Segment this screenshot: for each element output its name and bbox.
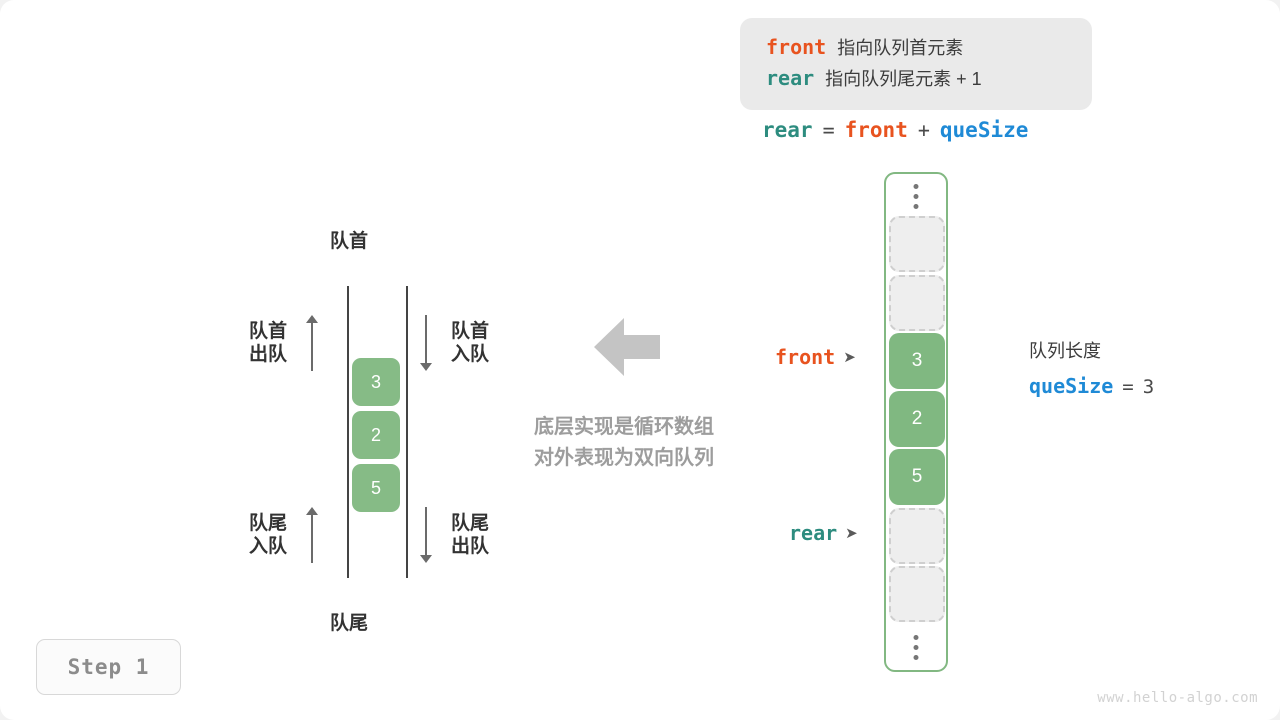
pointer-rear-label: rear bbox=[789, 521, 837, 545]
arrow-up-icon bbox=[305, 507, 319, 563]
formula-rear: rear bbox=[762, 118, 813, 142]
formula-quesize: queSize bbox=[940, 118, 1029, 142]
pointer-front-label: front bbox=[775, 345, 835, 369]
arrow-down-icon bbox=[419, 315, 433, 371]
step-badge: Step 1 bbox=[36, 639, 181, 695]
op-head-dequeue: 队首 出队 bbox=[249, 315, 319, 371]
queue-size-title: 队列长度 bbox=[1029, 337, 1154, 366]
deque-cell-2: 5 bbox=[352, 464, 400, 512]
op-line-1: 队尾 bbox=[451, 512, 489, 535]
array-cell-2: 3 bbox=[889, 333, 945, 389]
pointer-rear: rear ➤ bbox=[789, 521, 858, 545]
rear-formula: rear = front + queSize bbox=[762, 118, 1028, 142]
diagram-canvas: front 指向队列首元素 rear 指向队列尾元素 + 1 rear = fr… bbox=[0, 0, 1280, 720]
implementation-note-line-2: 对外表现为双向队列 bbox=[534, 443, 714, 474]
array-cell-6 bbox=[889, 566, 945, 622]
quesize-value: 3 bbox=[1143, 372, 1154, 403]
array-cell-1 bbox=[889, 275, 945, 331]
quesize-equals: = bbox=[1122, 372, 1133, 403]
legend-token-front: front bbox=[766, 32, 826, 63]
formula-front: front bbox=[845, 118, 908, 142]
deque-head-label: 队首 bbox=[330, 230, 368, 253]
array-cell-5 bbox=[889, 508, 945, 564]
formula-equals: = bbox=[823, 118, 835, 142]
op-line-2: 出队 bbox=[249, 343, 287, 366]
arrow-down-icon bbox=[419, 507, 433, 563]
legend-desc-front: 指向队列首元素 bbox=[837, 35, 963, 63]
op-tail-enqueue-text: 队尾 入队 bbox=[249, 512, 287, 558]
vertical-ellipsis-icon-bottom bbox=[914, 635, 919, 660]
queue-size-note: 队列长度 queSize = 3 bbox=[1029, 337, 1154, 403]
op-line-1: 队首 bbox=[249, 320, 287, 343]
implementation-note-line-1: 底层实现是循环数组 bbox=[534, 412, 714, 443]
quesize-name: queSize bbox=[1029, 370, 1113, 402]
op-line-2: 入队 bbox=[451, 343, 489, 366]
deque-rail-left bbox=[347, 286, 349, 578]
deque-rail-right bbox=[406, 286, 408, 578]
deque-tail-label: 队尾 bbox=[330, 612, 368, 635]
array-cell-4: 5 bbox=[889, 449, 945, 505]
op-tail-enqueue: 队尾 入队 bbox=[249, 507, 319, 563]
pointer-caret-icon: ➤ bbox=[843, 350, 856, 365]
deque-cell-0: 3 bbox=[352, 358, 400, 406]
pointer-legend-box: front 指向队列首元素 rear 指向队列尾元素 + 1 bbox=[740, 18, 1092, 110]
watermark: www.hello-algo.com bbox=[1097, 690, 1258, 706]
op-line-2: 出队 bbox=[451, 535, 489, 558]
array-cell-0 bbox=[889, 216, 945, 272]
op-line-2: 入队 bbox=[249, 535, 287, 558]
pointer-front: front ➤ bbox=[775, 345, 856, 369]
pointer-caret-icon: ➤ bbox=[845, 526, 858, 541]
formula-plus: + bbox=[918, 118, 930, 142]
legend-row-rear: rear 指向队列尾元素 + 1 bbox=[766, 63, 1070, 94]
op-head-dequeue-text: 队首 出队 bbox=[249, 320, 287, 366]
left-arrow-icon bbox=[594, 318, 660, 381]
deque-cell-1: 2 bbox=[352, 411, 400, 459]
legend-desc-rear: 指向队列尾元素 + 1 bbox=[825, 66, 982, 94]
implementation-note: 底层实现是循环数组 对外表现为双向队列 bbox=[534, 412, 714, 474]
legend-row-front: front 指向队列首元素 bbox=[766, 32, 1070, 63]
vertical-ellipsis-icon-top bbox=[914, 184, 919, 209]
circular-array-frame: 3 2 5 bbox=[884, 172, 948, 672]
op-head-enqueue: 队首 入队 bbox=[419, 315, 489, 371]
legend-token-rear: rear bbox=[766, 63, 814, 94]
op-tail-dequeue: 队尾 出队 bbox=[419, 507, 489, 563]
op-line-1: 队首 bbox=[451, 320, 489, 343]
op-line-1: 队尾 bbox=[249, 512, 287, 535]
arrow-up-icon bbox=[305, 315, 319, 371]
op-tail-dequeue-text: 队尾 出队 bbox=[451, 512, 489, 558]
array-cell-3: 2 bbox=[889, 391, 945, 447]
op-head-enqueue-text: 队首 入队 bbox=[451, 320, 489, 366]
